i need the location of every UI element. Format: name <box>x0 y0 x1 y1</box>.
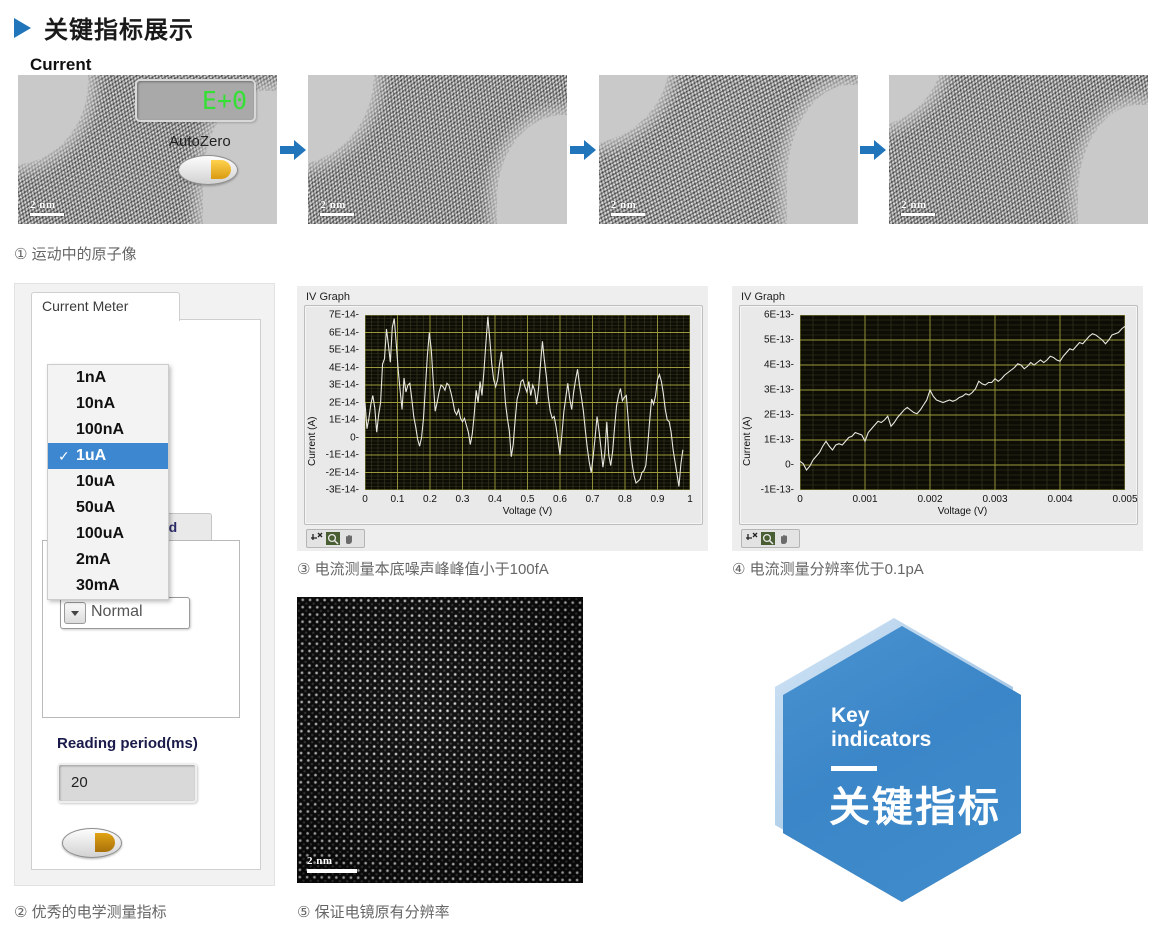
stem-vignette <box>297 597 583 883</box>
iv-graph-panel-noise: IV Graph Current (A) Voltage (V) 7E-14-6… <box>297 286 708 551</box>
iv-x-tick-label: 0.1 <box>391 494 405 505</box>
iv-x-tick-label: 0.002 <box>917 494 942 505</box>
scale-bar-line <box>30 213 64 216</box>
iv-x-tick-label: 1 <box>687 494 693 505</box>
caption-3: ③ 电流测量本底噪声峰峰值小于100fA <box>297 558 549 579</box>
mode-select[interactable]: Normal <box>60 597 190 629</box>
hex-title-en: Key indicators <box>831 704 931 752</box>
iv-x-tick-label: 0.8 <box>618 494 632 505</box>
iv-x-tick-label: 0.003 <box>982 494 1007 505</box>
iv-plot-area[interactable] <box>365 315 690 490</box>
flow-arrow-1 <box>277 140 309 160</box>
right-arrow-icon <box>570 140 596 160</box>
dropdown-option-50ua[interactable]: 50uA <box>48 495 168 521</box>
iv-y-tick-label: 0- <box>754 460 794 471</box>
page-title: 关键指标展示 <box>44 10 194 45</box>
scale-bar-label: 2 nm <box>307 856 357 867</box>
hex-text-block: Key indicators 关键指标 <box>783 626 1021 902</box>
current-section-label: Current <box>30 55 91 75</box>
dropdown-option-1ua[interactable]: ✓1uA <box>48 443 168 469</box>
iv-graph-frame: Current (A) Voltage (V) 7E-14-6E-14-5E-1… <box>304 305 703 525</box>
iv-y-tick-label: 7E-14- <box>319 310 359 321</box>
iv-plot-svg <box>365 315 690 490</box>
scale-bar-line <box>901 213 935 216</box>
iv-y-tick-label: 0- <box>319 432 359 443</box>
dropdown-option-100na[interactable]: 100nA <box>48 417 168 443</box>
right-arrow-icon <box>860 140 886 160</box>
caption-1: ① 运动中的原子像 <box>14 243 137 264</box>
tem-image-4: 2 nm <box>889 75 1148 224</box>
iv-y-tick-label: 2E-13- <box>754 410 794 421</box>
zoom-icon[interactable] <box>761 532 775 545</box>
triangle-bullet-icon <box>14 18 31 38</box>
dropdown-option-2ma[interactable]: 2mA <box>48 547 168 573</box>
hex-title-en-line1: Key <box>831 704 931 728</box>
dropdown-option-label: 10uA <box>76 473 115 490</box>
iv-trace <box>365 317 683 487</box>
dropdown-option-label: 2mA <box>76 551 111 568</box>
tem-image-3: 2 nm <box>599 75 858 224</box>
iv-y-tick-label: 4E-13- <box>754 360 794 371</box>
iv-y-tick-label: 4E-14- <box>319 362 359 373</box>
iv-x-tick-label: 0 <box>797 494 803 505</box>
autozero-toggle[interactable] <box>178 155 238 185</box>
toggle-knob <box>95 833 115 852</box>
iv-graph-frame: Current (A) Voltage (V) 6E-13-5E-13-4E-1… <box>739 305 1138 525</box>
iv-x-tick-label: 0 <box>362 494 368 505</box>
hex-title-cn: 关键指标 <box>829 784 1001 830</box>
iv-y-tick-label: 1E-13- <box>754 435 794 446</box>
iv-graph-title: IV Graph <box>306 291 350 303</box>
key-indicators-badge: Key indicators 关键指标 <box>757 606 1047 916</box>
dropdown-option-label: 50uA <box>76 499 115 516</box>
current-range-dropdown[interactable]: 1nA10nA100nA✓1uA10uA50uA100uA2mA30mA <box>47 364 169 600</box>
chevron-down-icon[interactable] <box>64 602 86 624</box>
crosshair-cursor-icon[interactable] <box>310 532 324 545</box>
page-header: 关键指标展示 <box>14 10 194 45</box>
mode-select-value: Normal <box>91 603 143 621</box>
iv-y-tick-label: 5E-13- <box>754 335 794 346</box>
iv-y-axis-title: Current (A) <box>742 346 753 466</box>
dropdown-option-10na[interactable]: 10nA <box>48 391 168 417</box>
dropdown-option-label: 1nA <box>76 369 106 386</box>
scale-bar-label: 2 nm <box>320 200 354 211</box>
iv-graph-panel-resolution: IV Graph Current (A) Voltage (V) 6E-13-5… <box>732 286 1143 551</box>
flow-arrow-3 <box>858 140 890 160</box>
scale-bar-label: 2 nm <box>611 200 645 211</box>
iv-graph-title: IV Graph <box>741 291 785 303</box>
iv-x-tick-label: 0.5 <box>521 494 535 505</box>
iv-x-axis-title: Voltage (V) <box>800 506 1125 517</box>
pan-hand-icon[interactable] <box>777 532 791 545</box>
iv-x-tick-label: 0.2 <box>423 494 437 505</box>
dropdown-option-100ua[interactable]: 100uA <box>48 521 168 547</box>
scale-bar: 2 nm <box>307 856 357 873</box>
iv-plot-area[interactable] <box>800 315 1125 490</box>
iv-trace <box>800 326 1125 470</box>
right-arrow-icon <box>280 140 306 160</box>
iv-x-tick-label: 0.001 <box>852 494 877 505</box>
reading-period-label: Reading period(ms) <box>57 735 198 752</box>
pan-hand-icon[interactable] <box>342 532 356 545</box>
scale-bar-label: 2 nm <box>30 200 64 211</box>
dropdown-option-label: 10nA <box>76 395 115 412</box>
hex-title-en-line2: indicators <box>831 728 931 752</box>
iv-x-tick-label: 0.7 <box>586 494 600 505</box>
caption-5: ⑤ 保证电镜原有分辨率 <box>297 901 450 922</box>
caption-2: ② 优秀的电学测量指标 <box>14 901 167 922</box>
stem-atomic-image: 2 nm <box>297 597 583 883</box>
scale-bar-label: 2 nm <box>901 200 935 211</box>
reading-period-value: 20 <box>71 774 88 791</box>
iv-y-tick-label: -2E-14- <box>319 467 359 478</box>
dropdown-option-label: 100nA <box>76 421 124 438</box>
iv-x-tick-label: 0.4 <box>488 494 502 505</box>
scale-bar: 2 nm <box>320 200 354 216</box>
scale-bar-line <box>611 213 645 216</box>
dropdown-option-30ma[interactable]: 30mA <box>48 573 168 599</box>
autozero-label: AutoZero <box>169 133 231 150</box>
dropdown-option-label: 30mA <box>76 577 120 594</box>
iv-graph-toolbar[interactable] <box>306 529 365 548</box>
crosshair-cursor-icon[interactable] <box>745 532 759 545</box>
iv-x-tick-label: 0.6 <box>553 494 567 505</box>
reading-period-input[interactable]: 20 <box>57 763 197 803</box>
iv-y-tick-label: -3E-14- <box>319 485 359 496</box>
tab-current-meter[interactable]: Current Meter <box>31 292 180 321</box>
scale-bar: 2 nm <box>611 200 645 216</box>
major-gridlines <box>365 315 690 490</box>
iv-y-tick-label: 6E-14- <box>319 327 359 338</box>
iv-y-tick-label: 3E-14- <box>319 380 359 391</box>
iv-y-tick-label: -1E-13- <box>754 485 794 496</box>
current-value-display: E+0 <box>135 79 256 122</box>
dropdown-option-label: 1uA <box>76 447 106 464</box>
iv-y-axis-title: Current (A) <box>307 346 318 466</box>
iv-y-tick-label: -1E-14- <box>319 450 359 461</box>
scale-bar-line <box>307 869 357 873</box>
check-icon: ✓ <box>58 443 70 469</box>
major-gridlines <box>800 315 1125 490</box>
tem-image-2: 2 nm <box>308 75 567 224</box>
minor-gridlines <box>800 315 1125 490</box>
scale-bar: 2 nm <box>30 200 64 216</box>
iv-y-tick-label: 5E-14- <box>319 345 359 356</box>
current-value-text: E+0 <box>202 86 247 115</box>
scale-bar: 2 nm <box>901 200 935 216</box>
hex-divider <box>831 766 877 771</box>
scale-bar-line <box>320 213 354 216</box>
dropdown-option-10ua[interactable]: 10uA <box>48 469 168 495</box>
iv-x-axis-title: Voltage (V) <box>365 506 690 517</box>
iv-x-tick-label: 0.004 <box>1047 494 1072 505</box>
caption-4: ④ 电流测量分辨率优于0.1pA <box>732 558 924 579</box>
iv-x-tick-label: 0.9 <box>651 494 665 505</box>
dropdown-option-1na[interactable]: 1nA <box>48 365 168 391</box>
iv-x-tick-label: 0.005 <box>1112 494 1137 505</box>
run-toggle[interactable] <box>62 828 122 858</box>
iv-plot-svg <box>800 315 1125 490</box>
iv-y-tick-label: 2E-14- <box>319 397 359 408</box>
iv-y-tick-label: 3E-13- <box>754 385 794 396</box>
dropdown-option-label: 100uA <box>76 525 124 542</box>
flow-arrow-2 <box>567 140 599 160</box>
zoom-icon[interactable] <box>326 532 340 545</box>
iv-graph-toolbar[interactable] <box>741 529 800 548</box>
toggle-knob <box>211 160 231 179</box>
tab-current-meter-label: Current Meter <box>42 298 128 314</box>
iv-x-tick-label: 0.3 <box>456 494 470 505</box>
iv-y-tick-label: 1E-14- <box>319 415 359 426</box>
iv-y-tick-label: 6E-13- <box>754 310 794 321</box>
